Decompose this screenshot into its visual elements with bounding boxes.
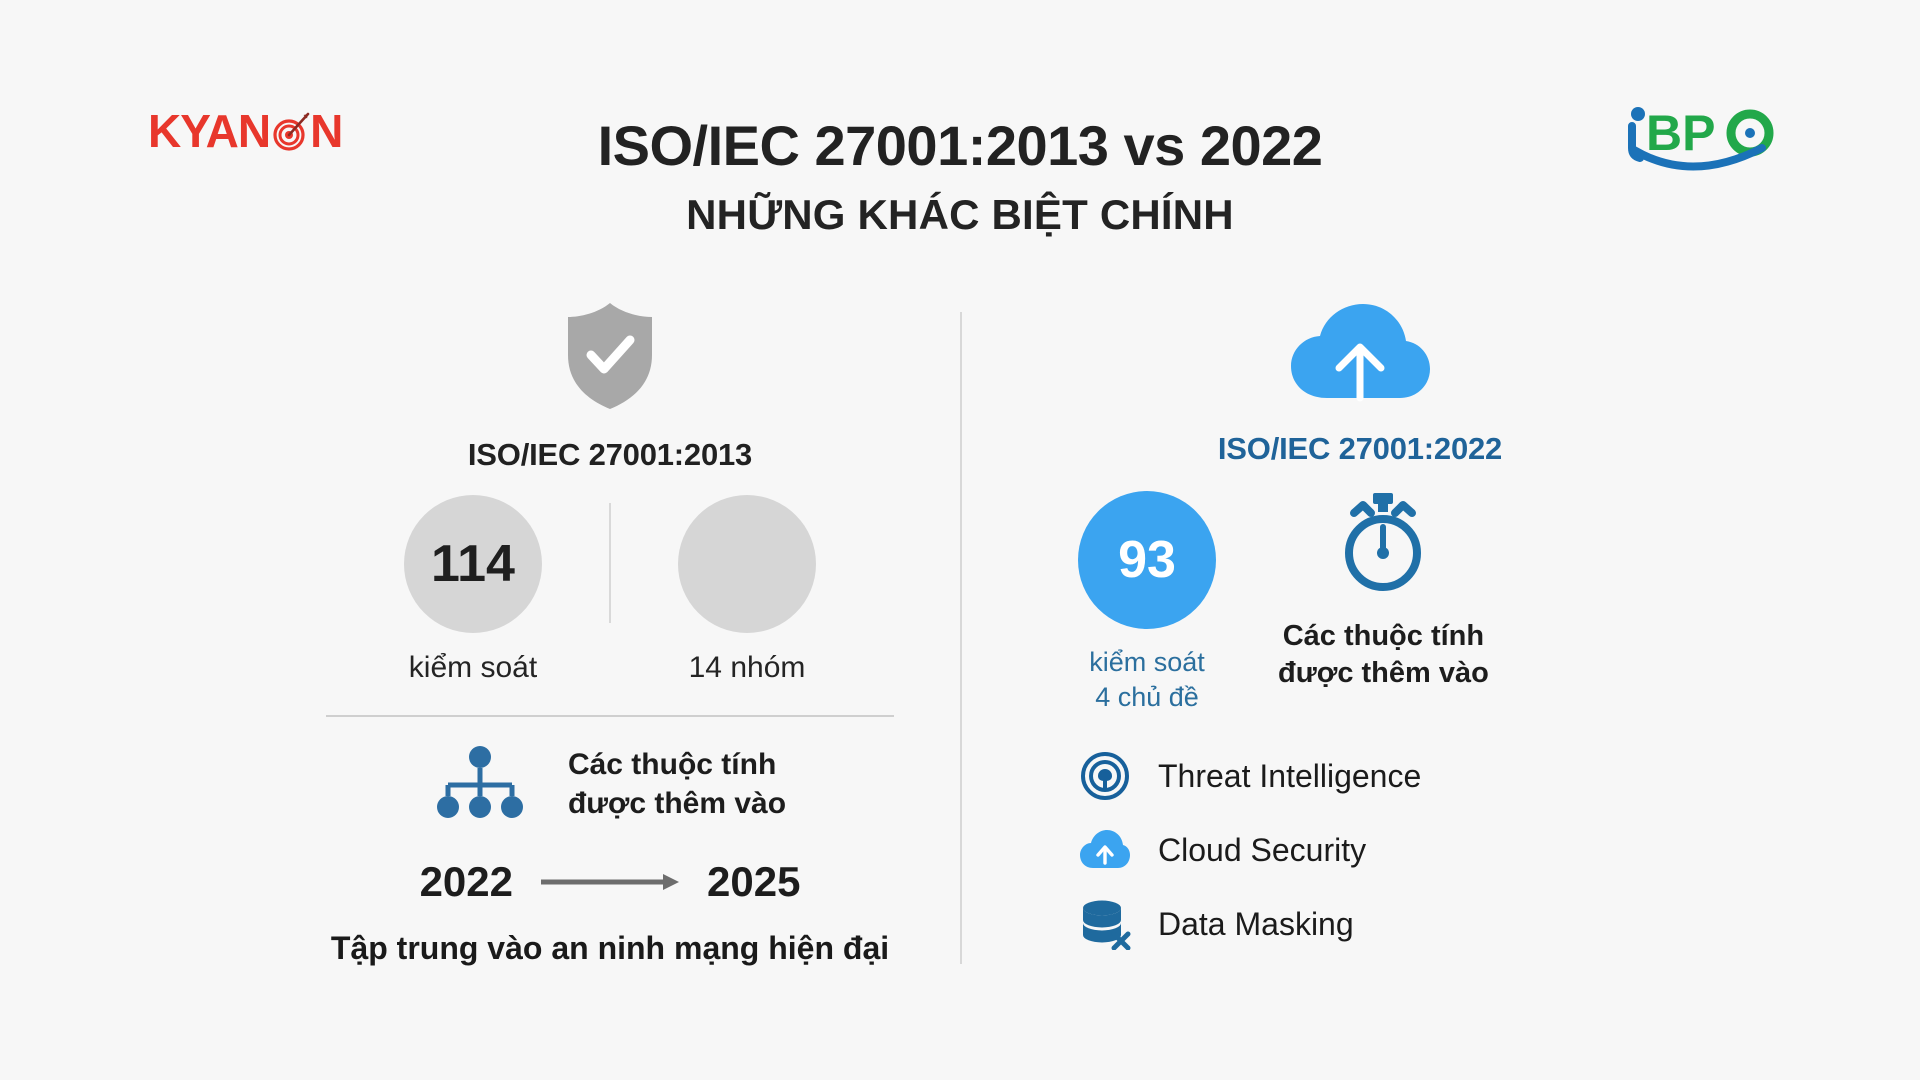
title-block: ISO/IEC 27001:2013 vs 2022 NHỮNG KHÁC BI…	[0, 116, 1920, 239]
shield-wrap	[280, 300, 940, 417]
list-item[interactable]: Data Masking	[1078, 897, 1700, 951]
stat-caption: kiểm soát	[409, 651, 537, 685]
list-item[interactable]: Cloud Security	[1078, 823, 1700, 877]
stat-caption-line-1: kiểm soát	[1089, 645, 1205, 680]
stat-value-circle	[678, 495, 816, 633]
timeline-year-to: 2025	[707, 858, 800, 906]
center-divider	[960, 312, 962, 964]
arrow-right-icon	[539, 872, 681, 892]
left-panel-divider	[326, 715, 894, 717]
data-masking-icon	[1078, 897, 1132, 951]
threat-radar-icon	[1078, 749, 1132, 803]
stats-row-2013: 114 kiểm soát 14 nhóm	[280, 495, 940, 685]
stat-value-circle: 93	[1078, 491, 1216, 629]
stats-row-2022: 93 kiểm soát 4 chủ đề	[1000, 491, 1700, 715]
attributes-line-2: được thêm vào	[1278, 655, 1489, 692]
cloud-security-icon	[1078, 823, 1132, 877]
stat-controls-2013: 114 kiểm soát	[337, 495, 609, 685]
list-item-label: Threat Intelligence	[1158, 758, 1421, 795]
attributes-line-1: Các thuộc tính	[1278, 618, 1489, 655]
attributes-line-2: được thêm vào	[568, 785, 786, 823]
attributes-block-2022: Các thuộc tính được thêm vào	[1278, 491, 1489, 692]
infographic-canvas: KYAN N BP ISO/IEC	[0, 0, 1920, 1080]
list-item-label: Data Masking	[1158, 906, 1354, 943]
attributes-row-2013: Các thuộc tính được thêm vào	[280, 745, 940, 824]
shield-check-icon	[560, 300, 660, 417]
stopwatch-icon	[1335, 491, 1431, 600]
cloud-upload-icon	[1287, 300, 1433, 409]
panel-iso-2013: ISO/IEC 27001:2013 114 kiểm soát 14 nhóm	[280, 300, 940, 967]
heading-iso-2022: ISO/IEC 27001:2022	[1000, 431, 1700, 467]
hierarchy-icon	[434, 745, 526, 824]
stat-groups-2013: 14 nhóm	[611, 495, 883, 685]
page-title: ISO/IEC 27001:2013 vs 2022	[0, 116, 1920, 175]
timeline-row: 2022 2025	[280, 858, 940, 906]
stat-value-circle: 114	[404, 495, 542, 633]
stat-caption-line-2: 4 chủ đề	[1089, 680, 1205, 715]
attributes-line-1: Các thuộc tính	[568, 746, 786, 784]
list-item[interactable]: Threat Intelligence	[1078, 749, 1700, 803]
stat-caption: 14 nhóm	[689, 651, 806, 685]
cloud-wrap	[1000, 300, 1700, 409]
heading-iso-2013: ISO/IEC 27001:2013	[280, 437, 940, 473]
feature-list: Threat Intelligence Cloud Security	[1000, 749, 1700, 951]
stat-caption: kiểm soát 4 chủ đề	[1089, 645, 1205, 715]
attributes-text-2013: Các thuộc tính được thêm vào	[568, 746, 786, 823]
stat-controls-2022: 93 kiểm soát 4 chủ đề	[1078, 491, 1216, 715]
focus-statement: Tập trung vào an ninh mạng hiện đại	[280, 930, 940, 967]
timeline-year-from: 2022	[420, 858, 513, 906]
panel-iso-2022: ISO/IEC 27001:2022 93 kiểm soát 4 chủ đề	[1000, 300, 1700, 971]
attributes-text-2022: Các thuộc tính được thêm vào	[1278, 618, 1489, 692]
list-item-label: Cloud Security	[1158, 832, 1366, 869]
page-subtitle: NHỮNG KHÁC BIỆT CHÍNH	[0, 191, 1920, 239]
